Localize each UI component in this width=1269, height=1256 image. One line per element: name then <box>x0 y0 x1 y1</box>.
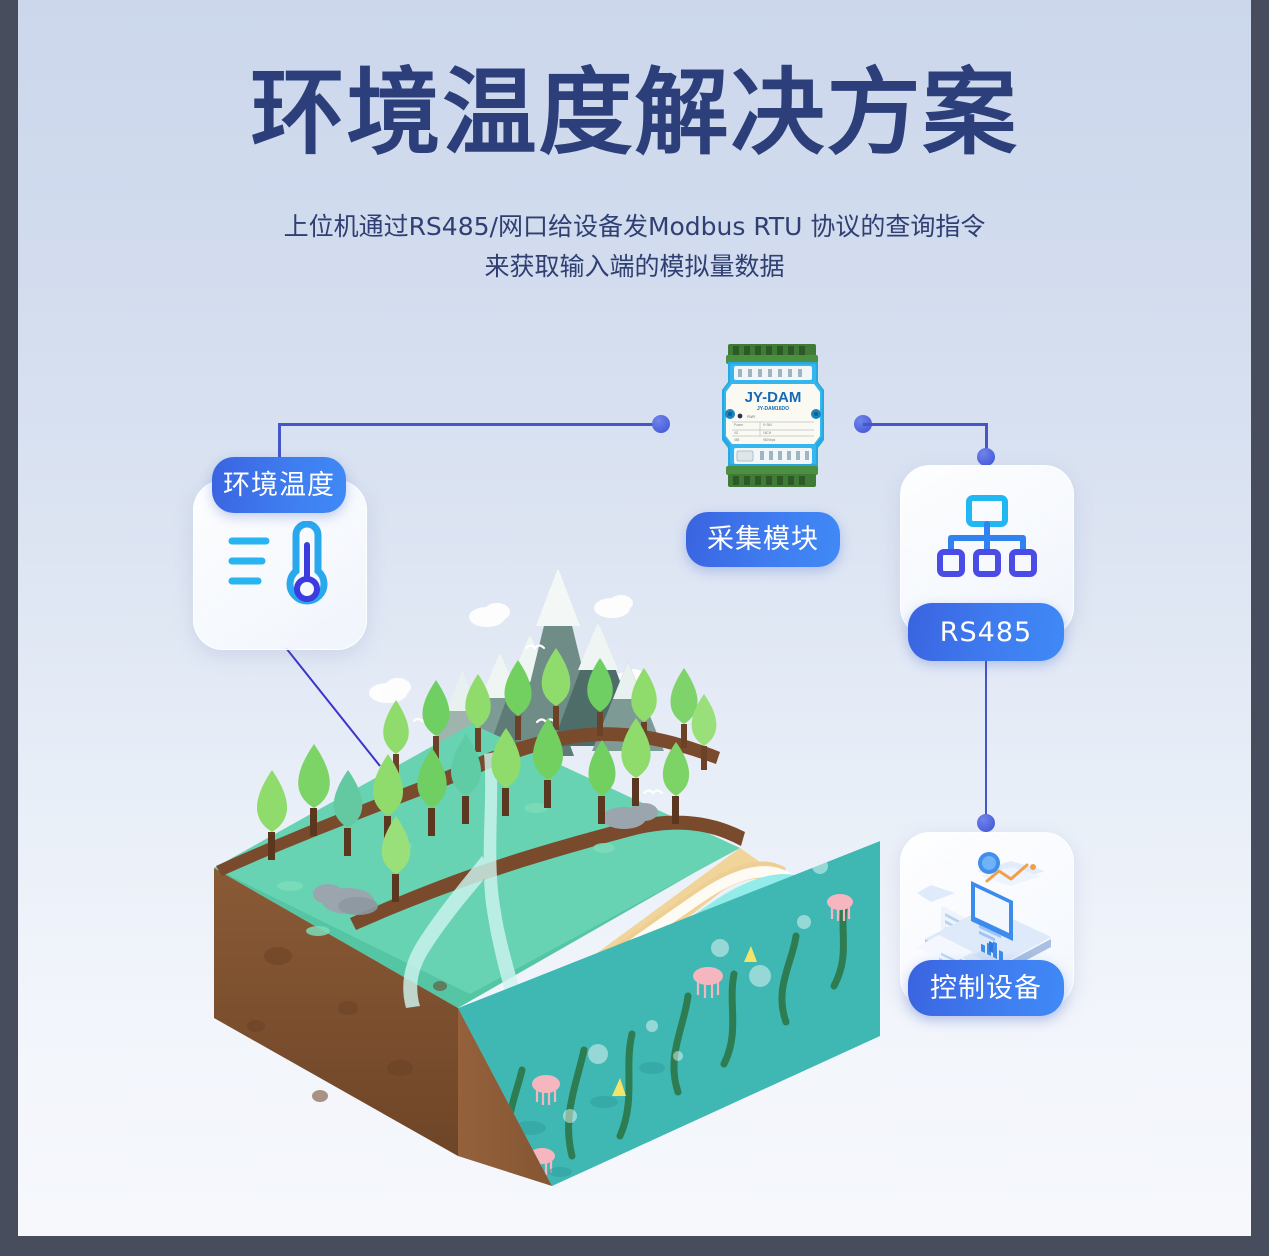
svg-text:9~36V: 9~36V <box>763 423 773 427</box>
svg-text:JY-DAM: JY-DAM <box>745 389 802 406</box>
svg-text:I/O: I/O <box>734 431 739 435</box>
svg-text:485: 485 <box>734 438 740 442</box>
bus-label-pill[interactable]: RS485 <box>908 603 1064 661</box>
svg-text:16CH: 16CH <box>763 431 772 435</box>
svg-text:9600bps: 9600bps <box>763 438 776 442</box>
svg-text:PWR: PWR <box>747 415 755 419</box>
page-frame: 环境温度解决方案 上位机通过RS485/网口给设备发Modbus RTU 协议的… <box>18 0 1251 1236</box>
controller-label-pill[interactable]: 控制设备 <box>908 960 1064 1016</box>
acquisition-module-device[interactable]: JY-DAM JY-DAM16DO PWR Power9~36V I/O16CH… <box>720 344 826 490</box>
sensor-label-pill[interactable]: 环境温度 <box>212 457 346 513</box>
module-label-pill[interactable]: 采集模块 <box>686 512 840 567</box>
svg-text:JY-DAM16DO: JY-DAM16DO <box>757 406 789 412</box>
desktop-computer-icon <box>915 847 1061 977</box>
network-tree-icon <box>937 494 1037 582</box>
landscape-illustration <box>200 556 880 1186</box>
svg-text:Power: Power <box>734 423 744 427</box>
thermometer-icon <box>222 521 338 611</box>
